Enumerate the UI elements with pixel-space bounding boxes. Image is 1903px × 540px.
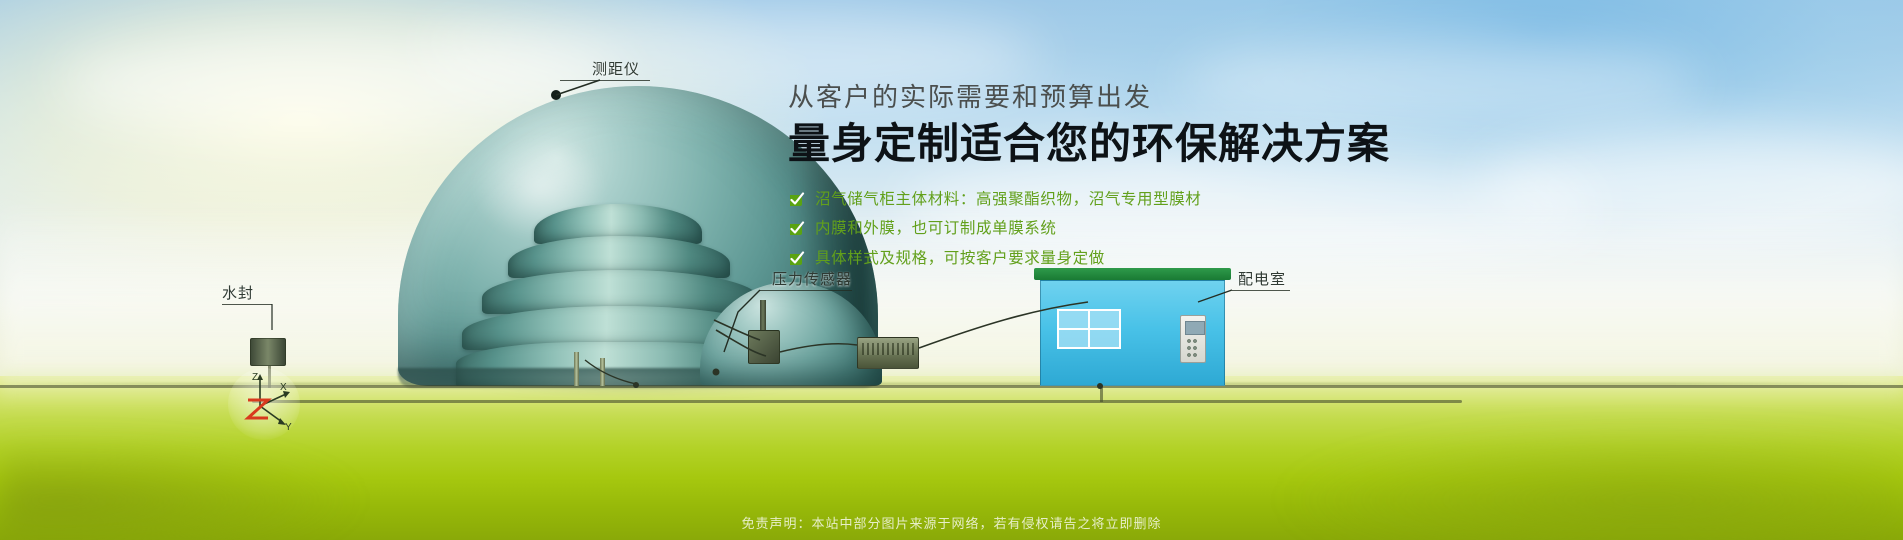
check-icon [788,192,805,209]
check-icon [788,251,805,268]
svg-text:X: X [280,382,287,393]
blower-pump-unit [857,337,919,369]
water-seal-device [250,338,286,366]
feature-bullet-list: 沼气储气柜主体材料：高强聚酯织物，沼气专用型膜材 内膜和外膜，也可订制成单膜系统 [788,191,1348,269]
feature-bullet-3: 具体样式及规格，可按客户要求量身定做 [788,250,1348,269]
feature-bullet-1: 沼气储气柜主体材料：高强聚酯织物，沼气专用型膜材 [788,191,1348,210]
pressure-sensor-device [748,330,780,364]
label-pressure-sensor-underline [760,290,852,291]
feature-bullet-1-text: 沼气储气柜主体材料：高强聚酯织物，沼气专用型膜材 [815,191,1201,210]
building-window [1057,309,1121,349]
control-panel-buttons [1186,338,1202,358]
hero-banner: 测距仪 水封 压力传感器 配电室 Z X Y 从客户的实际需要和预算出发 量身定… [0,0,1903,540]
footer-disclaimer: 免责声明：本站中部分图片来源于网络，若有侵权请告之将立即删除 [0,513,1903,532]
control-panel [1180,315,1206,363]
label-rangefinder-underline [560,80,650,81]
svg-text:Z: Z [252,372,258,383]
feature-bullet-2-text: 内膜和外膜，也可订制成单膜系统 [815,220,1057,239]
label-water-seal-underline [222,304,272,305]
distribution-room-building [1040,268,1225,386]
building-riser [1100,386,1103,402]
vent-pipe-1 [574,352,579,386]
label-rangefinder: 测距仪 [592,58,640,79]
label-distribution-room-underline [1232,290,1290,291]
axis-gizmo: Z X Y [228,368,300,440]
hero-subtitle: 从客户的实际需要和预算出发 [788,82,1348,113]
svg-text:Y: Y [285,422,292,433]
building-body [1040,280,1225,386]
check-icon [788,221,805,238]
buried-pipe [252,400,1462,403]
vent-pipe-2 [600,358,605,386]
feature-bullet-2: 内膜和外膜，也可订制成单膜系统 [788,220,1348,239]
feature-bullet-3-text: 具体样式及规格，可按客户要求量身定做 [815,250,1105,269]
hero-text-block: 从客户的实际需要和预算出发 量身定制适合您的环保解决方案 沼气储气柜主体材料：高… [788,82,1348,280]
label-water-seal: 水封 [222,282,254,303]
hero-headline: 量身定制适合您的环保解决方案 [788,119,1348,169]
